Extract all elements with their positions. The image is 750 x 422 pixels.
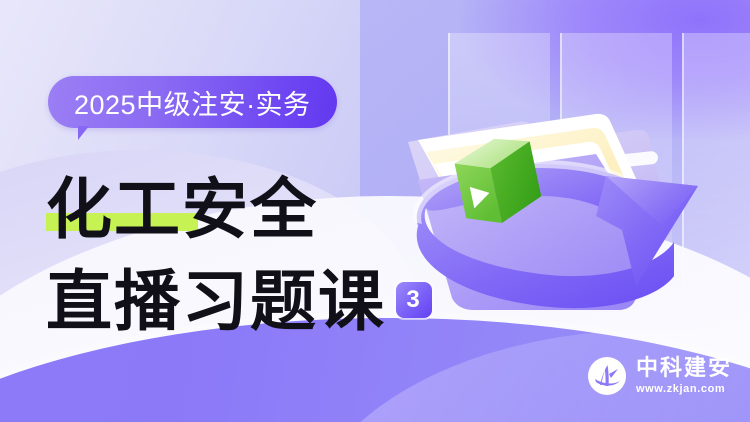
page-title-line-1-text: 化工安全 bbox=[46, 174, 318, 247]
brand-name: 中科建安 bbox=[636, 357, 732, 379]
course-banner: 2025中级注安·实务 化工安全 直播习题课 3 中科建安 www.zkjan.… bbox=[0, 0, 750, 422]
course-tag-label: 2025中级注安·实务 bbox=[48, 76, 337, 128]
banner-text-column: 2025中级注安·实务 化工安全 直播习题课 3 bbox=[0, 0, 470, 422]
brand-website: www.zkjan.com bbox=[636, 384, 732, 395]
brand-logo-text: 中科建安 www.zkjan.com bbox=[636, 357, 732, 395]
zkjan-circle-mark-icon bbox=[587, 356, 627, 396]
page-title-line-2-text: 直播习题课 bbox=[46, 248, 386, 344]
episode-badge: 3 bbox=[396, 282, 432, 318]
page-title-line-1: 化工安全 bbox=[46, 156, 318, 252]
page-title-line-2: 直播习题课 3 bbox=[46, 248, 432, 344]
course-tag: 2025中级注安·实务 bbox=[48, 76, 337, 128]
course-tag-tail bbox=[78, 126, 100, 140]
brand-logo[interactable]: 中科建安 www.zkjan.com bbox=[587, 356, 732, 396]
